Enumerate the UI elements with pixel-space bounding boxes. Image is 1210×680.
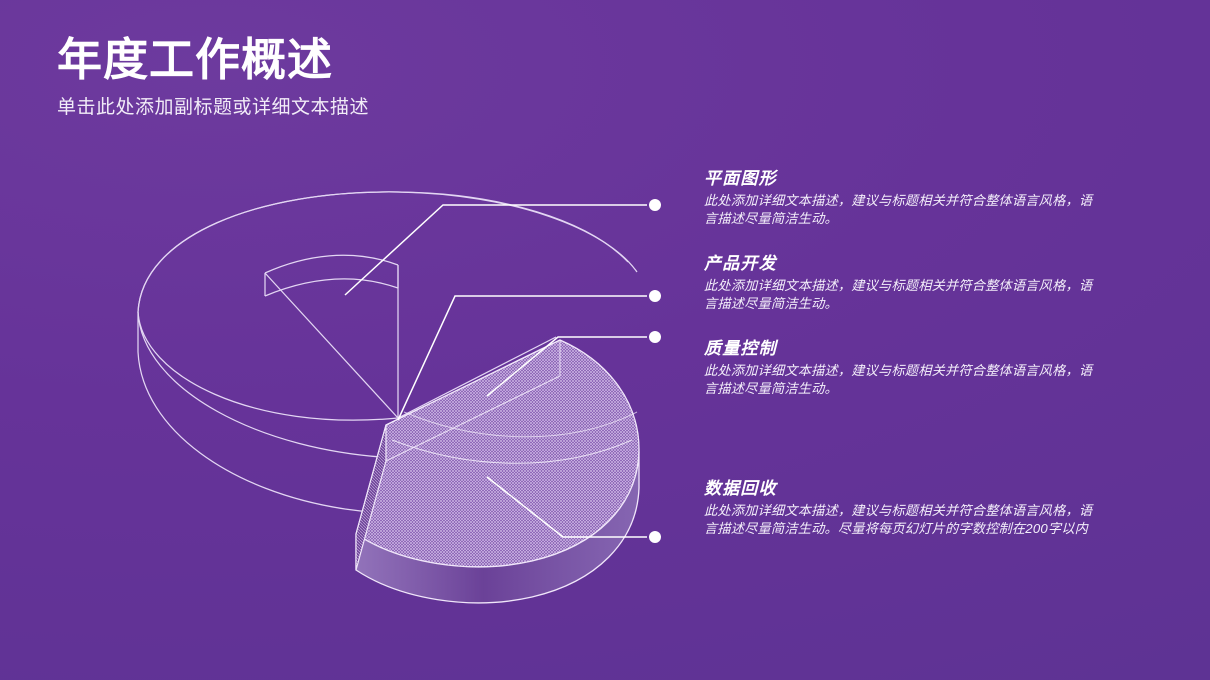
leader-dot-1	[649, 290, 661, 302]
callout-heading-3: 数据回收	[704, 478, 1104, 499]
main-disc-top-face	[138, 192, 637, 455]
leader-dot-0	[649, 199, 661, 211]
leader-line-2	[487, 337, 647, 396]
slice-anchor-stems	[352, 288, 398, 296]
page-subtitle: 单击此处添加副标题或详细文本描述	[57, 92, 369, 119]
callout-heading-1: 产品开发	[704, 253, 1104, 274]
leader-lines	[345, 205, 647, 537]
leader-dot-3	[649, 531, 661, 543]
callout-item-3[interactable]: 数据回收 此处添加详细文本描述，建议与标题相关并符合整体语言风格，语言描述尽量简…	[704, 478, 1104, 537]
main-disc-notch	[265, 255, 398, 296]
callout-body-3: 此处添加详细文本描述，建议与标题相关并符合整体语言风格，语言描述尽量简洁生动。尽…	[704, 502, 1104, 537]
main-disc-body	[138, 192, 628, 514]
page-title: 年度工作概述	[57, 36, 369, 83]
callout-body-1: 此处添加详细文本描述，建议与标题相关并符合整体语言风格，语言描述尽量简洁生动。	[704, 277, 1104, 312]
leader-line-3	[487, 477, 647, 537]
callout-body-0: 此处添加详细文本描述，建议与标题相关并符合整体语言风格，语言描述尽量简洁生动。	[704, 192, 1104, 227]
title-block: 年度工作概述 单击此处添加副标题或详细文本描述	[57, 36, 369, 119]
exploded-slice	[356, 340, 639, 603]
callout-item-2[interactable]: 质量控制 此处添加详细文本描述，建议与标题相关并符合整体语言风格，语言描述尽量简…	[704, 338, 1104, 397]
leader-line-1	[398, 296, 647, 420]
leader-dot-2	[649, 331, 661, 343]
callout-body-2: 此处添加详细文本描述，建议与标题相关并符合整体语言风格，语言描述尽量简洁生动。	[704, 362, 1104, 397]
pie-wireframe-group	[138, 192, 639, 603]
callout-item-0[interactable]: 平面图形 此处添加详细文本描述，建议与标题相关并符合整体语言风格，语言描述尽量简…	[704, 168, 1104, 227]
callout-heading-0: 平面图形	[704, 168, 1104, 189]
callout-heading-2: 质量控制	[704, 338, 1104, 359]
leader-dots	[649, 199, 661, 543]
callout-item-1[interactable]: 产品开发 此处添加详细文本描述，建议与标题相关并符合整体语言风格，语言描述尽量简…	[704, 253, 1104, 312]
leader-line-0	[345, 205, 647, 295]
